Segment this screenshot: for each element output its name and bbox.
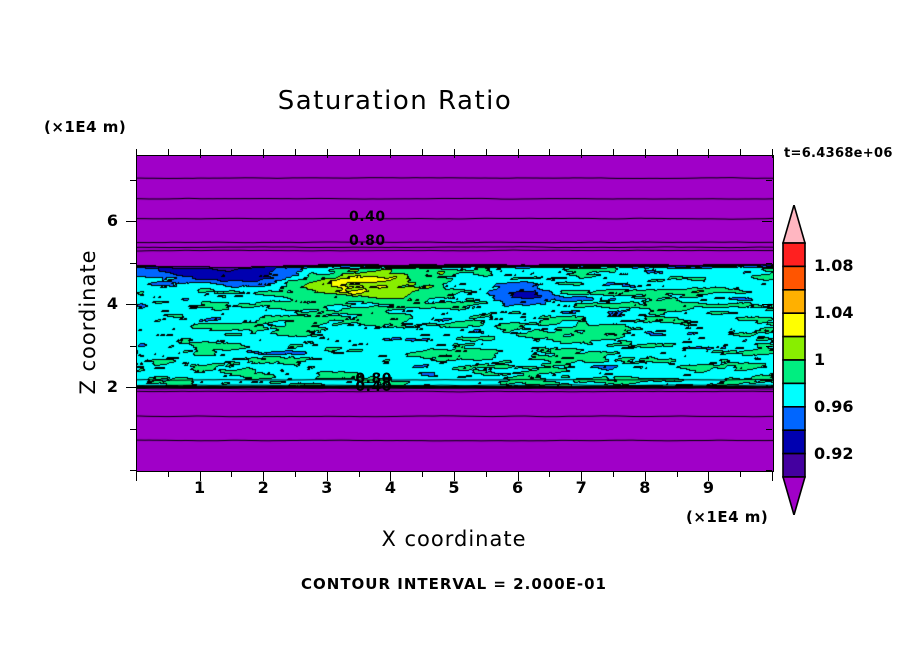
colorbar-band — [783, 454, 805, 477]
x-tick-label: 9 — [688, 478, 728, 497]
colorbar-band — [783, 313, 805, 336]
y-tick-right — [766, 429, 772, 430]
y-tick — [130, 470, 136, 471]
x-tick-top — [327, 149, 328, 158]
x-tick-top — [422, 149, 423, 155]
y-tick — [130, 346, 136, 347]
x-axis-title: X coordinate — [136, 527, 772, 551]
x-tick-top — [581, 149, 582, 158]
colorbar-band — [783, 243, 805, 266]
x-tick — [295, 471, 296, 477]
colorbar-under-arrow — [783, 477, 805, 515]
plot-area — [136, 155, 774, 472]
y-tick — [130, 180, 136, 181]
y-tick-right — [762, 304, 772, 305]
y-tick — [130, 263, 136, 264]
colorbar-band — [783, 430, 805, 453]
x-tick-top — [263, 149, 264, 158]
x-tick-label: 2 — [243, 478, 283, 497]
y-tick-right — [762, 387, 772, 388]
x-tick — [168, 471, 169, 477]
time-annotation: t=6.4368e+06 — [784, 146, 893, 161]
x-tick — [231, 471, 232, 477]
contour-label: 0.40 — [349, 209, 386, 225]
x-tick-label: 8 — [625, 478, 665, 497]
contour-label: 0.80 — [349, 233, 386, 249]
x-tick-top — [645, 149, 646, 158]
contour-label: 0.40 — [355, 379, 392, 395]
y-tick-right — [762, 221, 772, 222]
colorbar-over-arrow — [783, 205, 805, 243]
y-tick — [130, 429, 136, 430]
colorbar-tick-label: 0.96 — [814, 397, 853, 416]
x-tick-top — [136, 149, 137, 158]
colorbar-tick-label: 1.08 — [814, 256, 853, 275]
contour-field-canvas — [137, 156, 773, 471]
x-tick — [772, 471, 773, 481]
x-tick — [422, 471, 423, 477]
contour-interval-caption: CONTOUR INTERVAL = 2.000E-01 — [136, 575, 772, 593]
x-tick-label: 1 — [180, 478, 220, 497]
y-tick — [126, 221, 136, 222]
x-tick-top — [231, 149, 232, 155]
colorbar-band — [783, 360, 805, 383]
x-tick — [677, 471, 678, 477]
colorbar-tick-label: 0.92 — [814, 444, 853, 463]
x-tick-top — [613, 149, 614, 155]
y-tick — [126, 304, 136, 305]
colorbar-band — [783, 266, 805, 289]
colorbar[interactable] — [782, 205, 806, 515]
x-tick-top — [740, 149, 741, 155]
x-tick — [613, 471, 614, 477]
x-tick-top — [677, 149, 678, 155]
x-tick-top — [549, 149, 550, 155]
x-tick-top — [200, 149, 201, 158]
y-tick-right — [766, 263, 772, 264]
colorbar-band — [783, 383, 805, 406]
x-tick — [136, 471, 137, 481]
y-tick-right — [766, 180, 772, 181]
y-axis-title: Z coordinate — [76, 212, 100, 432]
x-tick — [486, 471, 487, 477]
colorbar-tick-label: 1.04 — [814, 303, 853, 322]
x-tick — [359, 471, 360, 477]
x-tick-top — [390, 149, 391, 158]
y-axis-unit-label: (×1E4 m) — [44, 118, 126, 136]
colorbar-svg — [782, 205, 806, 515]
y-tick-right — [766, 346, 772, 347]
page-title: Saturation Ratio — [0, 86, 790, 116]
colorbar-band — [783, 290, 805, 313]
x-tick-top — [168, 149, 169, 155]
x-tick-label: 3 — [307, 478, 347, 497]
x-axis-unit-label: (×1E4 m) — [686, 508, 768, 526]
colorbar-band — [783, 337, 805, 360]
x-tick-label: 4 — [370, 478, 410, 497]
x-tick-top — [708, 149, 709, 158]
colorbar-band — [783, 407, 805, 430]
x-tick — [549, 471, 550, 477]
x-tick-label: 5 — [434, 478, 474, 497]
x-tick-label: 7 — [561, 478, 601, 497]
x-tick-top — [486, 149, 487, 155]
y-tick-right — [766, 470, 772, 471]
x-tick-top — [454, 149, 455, 158]
x-tick-label: 6 — [498, 478, 538, 497]
y-tick — [126, 387, 136, 388]
x-tick-top — [772, 149, 773, 158]
x-tick-top — [295, 149, 296, 155]
x-tick — [740, 471, 741, 477]
x-tick-top — [359, 149, 360, 155]
x-tick-top — [518, 149, 519, 158]
contour-figure: Saturation Ratio (×1E4 m) t=6.4368e+06 1… — [0, 0, 904, 654]
colorbar-tick-label: 1 — [814, 350, 825, 369]
